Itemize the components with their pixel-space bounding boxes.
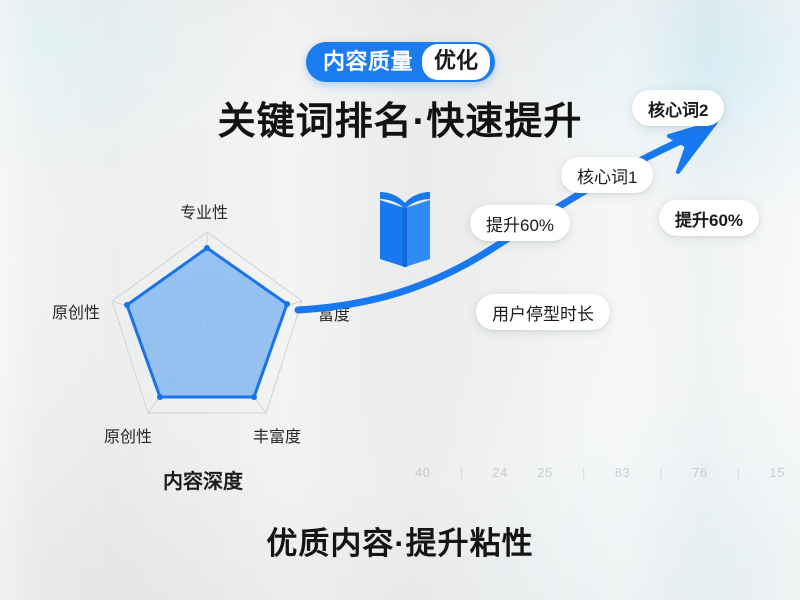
axis-tick-row: 40 | 24 25 | 83 | 76 | 15 [415,465,785,480]
axis-tick: 15 [770,465,785,480]
badge-main-label: 内容质量 [323,51,422,73]
axis-tick: 40 [415,465,430,480]
badge-chip-label: 优化 [422,44,490,80]
pill-core-keyword-1-label: 核心词1 [577,163,637,188]
pill-uplift-left-label: 提升60% [486,211,554,236]
pill-uplift-right[interactable]: 提升60% [659,200,759,236]
open-book-icon [374,187,436,269]
poster-canvas: 内容质量 优化 关键词排名·快速提升 优质内容·提升粘性 内容深度 [0,0,800,600]
axis-tick-separator: | [460,466,463,480]
pill-user-dwell-time-label: 用户停型时长 [492,300,594,325]
pill-core-keyword-2-label: 核心词2 [648,96,708,121]
axis-tick: 25 [537,465,552,480]
axis-tick-separator: | [582,466,585,480]
quality-badge[interactable]: 内容质量 优化 [306,42,495,82]
radar-axis-label-originality-left: 原创性 [52,299,100,323]
axis-tick: 76 [692,465,707,480]
pill-core-keyword-2[interactable]: 核心词2 [632,90,724,126]
pill-uplift-left[interactable]: 提升60% [470,205,570,241]
pill-uplift-right-label: 提升60% [675,206,743,231]
radar-series-area [127,248,287,397]
pill-user-dwell-time[interactable]: 用户停型时长 [476,294,610,330]
content-depth-caption: 内容深度 [163,465,243,494]
axis-tick: 83 [615,465,630,480]
radar-axis-label-richness: 丰富度 [253,423,301,447]
radar-axis-label-professionalism: 专业性 [180,199,228,223]
axis-tick: 24 [492,465,507,480]
axis-tick-separator: | [660,466,663,480]
footer-title: 优质内容·提升粘性 [0,518,800,563]
radar-axis-label-originality-bottom: 原创性 [104,423,152,447]
pill-core-keyword-1[interactable]: 核心词1 [561,157,653,193]
axis-tick-separator: | [737,466,740,480]
